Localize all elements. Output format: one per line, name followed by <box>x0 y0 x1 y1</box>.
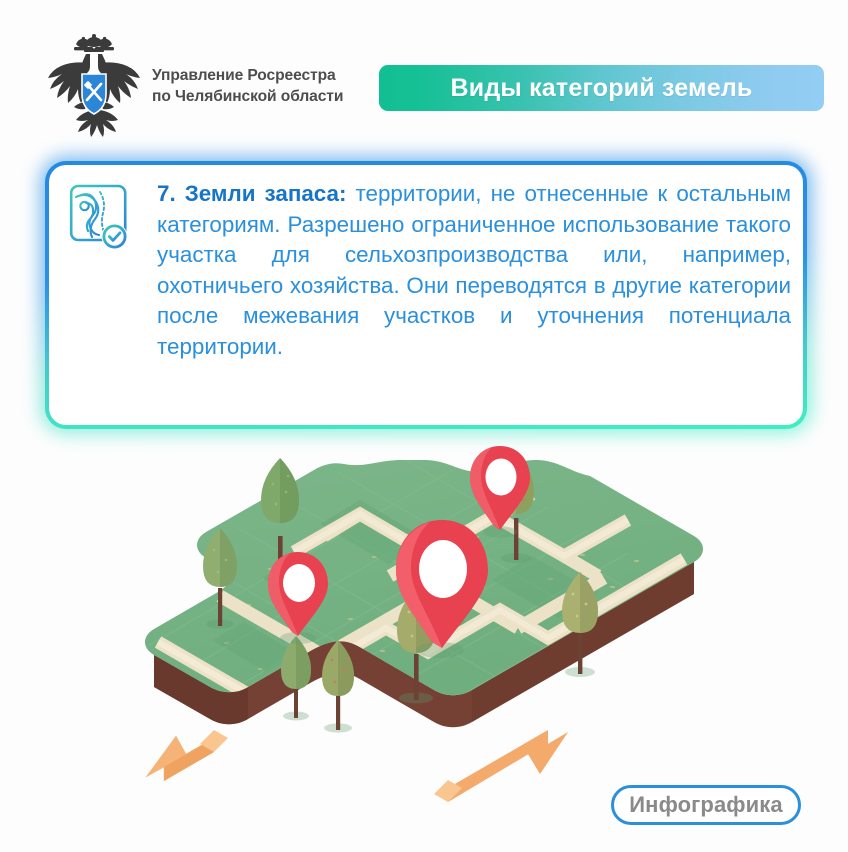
orange-arrow-right <box>434 730 568 802</box>
page-title: Виды категорий земель <box>451 74 753 103</box>
title-banner: Виды категорий земель <box>379 65 824 111</box>
isometric-land-plots-illustration <box>128 436 720 836</box>
page-header: Управление Росреестра по Челябинской обл… <box>0 0 848 148</box>
organization-name: Управление Росреестра по Челябинской обл… <box>152 66 367 107</box>
info-card-container: 7. Земли запаса: территории, не отнесенн… <box>40 156 812 434</box>
card-description: территории, не отнесенные к остальным ка… <box>157 181 791 359</box>
infographic-badge-label: Инфографика <box>629 792 782 818</box>
card-term: 7. Земли запаса: <box>157 181 346 206</box>
infographic-page: Управление Росреестра по Челябинской обл… <box>0 0 848 852</box>
org-name-line2: по Челябинской области <box>152 87 367 108</box>
land-plot-map-verified-icon <box>69 183 131 253</box>
card-body-text: 7. Земли запаса: территории, не отнесенн… <box>157 179 791 363</box>
info-card: 7. Земли запаса: территории, не отнесенн… <box>45 161 807 429</box>
infographic-badge: Инфографика <box>611 785 801 825</box>
orange-arrow-left <box>146 730 228 781</box>
org-name-line1: Управление Росреестра <box>152 67 336 84</box>
double-headed-eagle-emblem-icon <box>42 30 146 140</box>
